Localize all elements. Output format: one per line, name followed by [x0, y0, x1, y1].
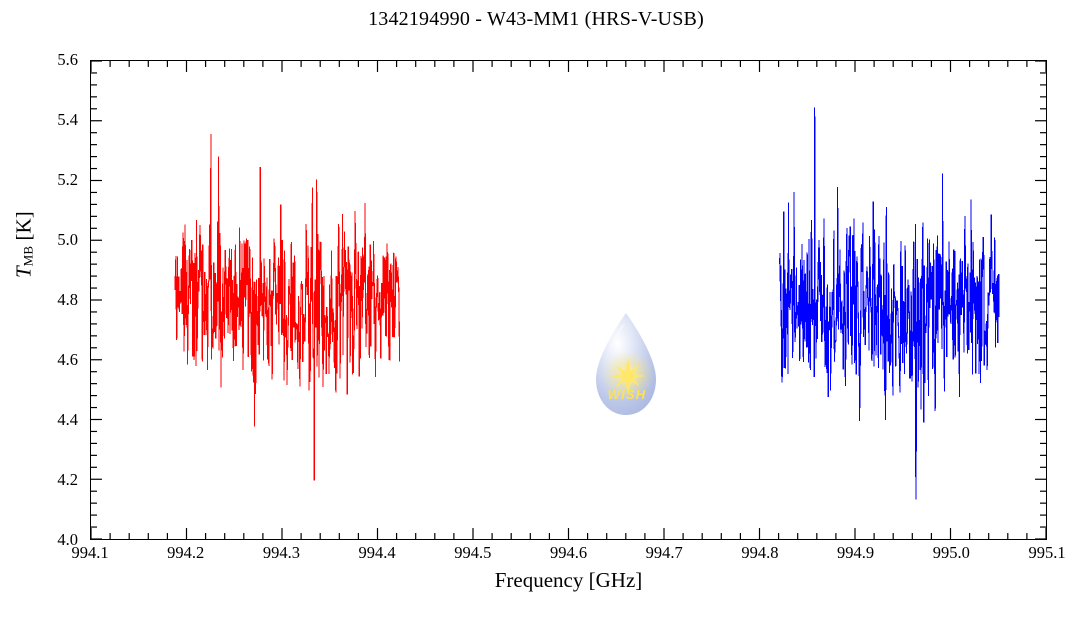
- y-tick-label: 4.0: [57, 530, 78, 550]
- x-tick-label: 994.7: [646, 543, 683, 563]
- x-tick-label: 994.9: [837, 543, 874, 563]
- y-axis-title: TMB [K]: [11, 135, 36, 355]
- x-tick-label: 994.4: [359, 543, 396, 563]
- x-tick-label: 994.3: [263, 543, 300, 563]
- plot-area: WISH: [90, 60, 1047, 540]
- x-axis-title: Frequency [GHz]: [90, 568, 1047, 593]
- spectrum-figure: 1342194990 - W43-MM1 (HRS-V-USB): [0, 0, 1072, 618]
- y-axis-symbol: T: [11, 266, 35, 278]
- spectrum-traces: [91, 61, 1046, 539]
- x-tick-label: 994.6: [550, 543, 587, 563]
- x-tick-label: 995.0: [933, 543, 970, 563]
- y-tick-label: 4.8: [57, 290, 78, 310]
- y-tick-label: 5.6: [57, 50, 78, 70]
- y-axis-unit: [K]: [11, 211, 35, 240]
- x-tick-label: 994.8: [741, 543, 778, 563]
- y-tick-label: 5.4: [57, 110, 78, 130]
- spectrum-trace: [780, 107, 1000, 499]
- y-tick-label: 4.4: [57, 410, 78, 430]
- y-axis-subscript: MB: [21, 246, 36, 267]
- x-tick-label: 994.5: [454, 543, 491, 563]
- x-tick-label: 995.1: [1028, 543, 1065, 563]
- y-tick-label: 5.0: [57, 230, 78, 250]
- spectrum-trace: [175, 134, 399, 481]
- x-tick-labels: 994.1994.2994.3994.4994.5994.6994.7994.8…: [90, 543, 1047, 565]
- x-tick-label: 994.2: [167, 543, 204, 563]
- page-title: 1342194990 - W43-MM1 (HRS-V-USB): [0, 8, 1072, 31]
- y-tick-label: 4.2: [57, 470, 78, 490]
- y-tick-label: 5.2: [57, 170, 78, 190]
- y-tick-label: 4.6: [57, 350, 78, 370]
